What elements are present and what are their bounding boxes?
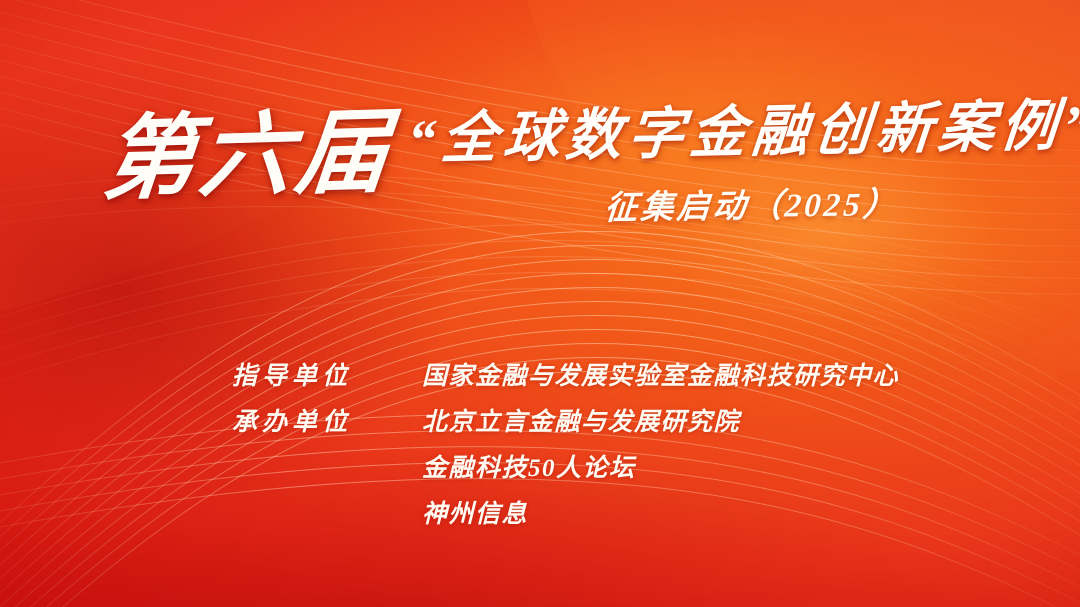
- credit-value-sponsor: 神州信息: [422, 494, 528, 530]
- credit-label-organizer: 承办单位: [232, 402, 422, 438]
- credits-block: 指导单位 国家金融与发展实验室金融科技研究中心 承办单位 北京立言金融与发展研究…: [0, 356, 1080, 540]
- credit-value-organizer: 北京立言金融与发展研究院: [422, 402, 740, 438]
- title-stack: “全球数字金融创新案例” 征集启动（2025）: [408, 104, 1080, 227]
- credit-value-forum: 金融科技50人论坛: [422, 448, 636, 484]
- credit-row: 金融科技50人论坛: [232, 448, 1080, 484]
- credit-row: 承办单位 北京立言金融与发展研究院: [232, 402, 1080, 438]
- page-title: “全球数字金融创新案例”: [405, 97, 1080, 170]
- poster-canvas: 第六届 “全球数字金融创新案例” 征集启动（2025） 指导单位 国家金融与发展…: [0, 0, 1080, 607]
- credit-label-guidance: 指导单位: [232, 356, 422, 392]
- credit-value-guidance: 国家金融与发展实验室金融科技研究中心: [422, 356, 899, 392]
- credit-row: 神州信息: [232, 494, 1080, 530]
- headline-row: 第六届 “全球数字金融创新案例” 征集启动（2025）: [0, 104, 1080, 227]
- edition-label: 第六届: [99, 106, 397, 206]
- page-subtitle: 征集启动（2025）: [603, 177, 901, 229]
- poster-content: 第六届 “全球数字金融创新案例” 征集启动（2025） 指导单位 国家金融与发展…: [0, 0, 1080, 607]
- credit-row: 指导单位 国家金融与发展实验室金融科技研究中心: [232, 356, 1080, 392]
